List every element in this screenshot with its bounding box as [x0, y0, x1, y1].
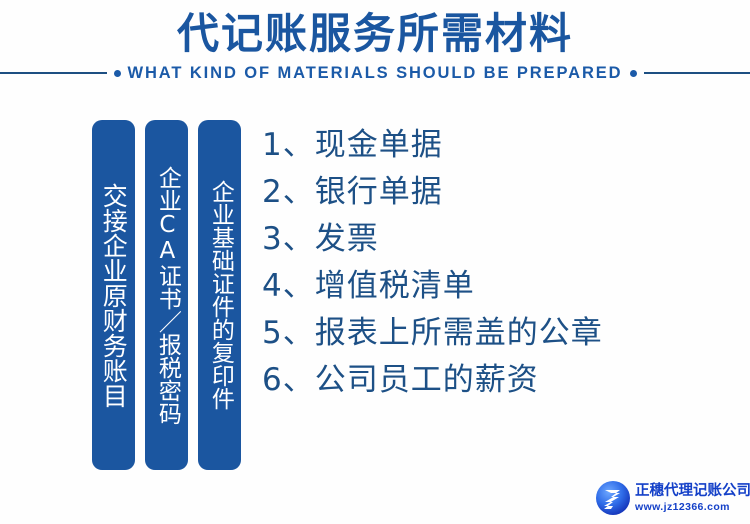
list-item: 4、增值税清单: [262, 263, 732, 310]
page-title: 代记账服务所需材料: [0, 8, 750, 60]
page-subtitle: WHAT KIND OF MATERIALS SHOULD BE PREPARE…: [128, 64, 623, 83]
logo-text-block: 正穗代理记账公司 www.jz12366.com: [635, 484, 750, 512]
list-item-label: 现金单据: [315, 127, 443, 163]
vertical-label-basic-documents: 企业基础证件的复印件: [198, 120, 241, 470]
list-item: 1、现金单据: [262, 122, 732, 169]
materials-list: 1、现金单据 2、银行单据 3、发票 4、增值税清单 5、报表上所需盖的公章 6…: [262, 122, 732, 404]
list-item-label: 报表上所需盖的公章: [315, 315, 603, 351]
list-item-label: 发票: [315, 221, 379, 257]
list-item-label: 公司员工的薪资: [315, 362, 539, 398]
list-item-label: 银行单据: [315, 174, 443, 210]
vertical-label-group: 交接企业原财务账目 企业CA证书／报税密码 企业基础证件的复印件: [92, 120, 241, 470]
vertical-label-ca-certificate: 企业CA证书／报税密码: [145, 120, 188, 470]
vertical-label-handover-accounts: 交接企业原财务账目: [92, 120, 135, 470]
list-item-number: 6、: [262, 362, 315, 398]
list-item-number: 1、: [262, 127, 315, 163]
list-item-number: 5、: [262, 315, 315, 351]
divider-line-right: [644, 72, 750, 74]
company-logo-icon: [594, 479, 632, 517]
list-item-number: 2、: [262, 174, 315, 210]
list-item: 3、发票: [262, 216, 732, 263]
list-item: 2、银行单据: [262, 169, 732, 216]
list-item-number: 3、: [262, 221, 315, 257]
watermark-logo: 正穗代理记账公司 www.jz12366.com: [594, 476, 742, 520]
subtitle-divider: WHAT KIND OF MATERIALS SHOULD BE PREPARE…: [0, 60, 750, 86]
divider-line-left: [0, 72, 107, 74]
logo-company-name: 正穗代理记账公司: [635, 484, 750, 499]
list-item: 6、公司员工的薪资: [262, 357, 732, 404]
logo-website-url: www.jz12366.com: [635, 502, 750, 513]
divider-dot-right-icon: [630, 70, 637, 77]
list-item-label: 增值税清单: [315, 268, 475, 304]
poster-canvas: 代记账服务所需材料 WHAT KIND OF MATERIALS SHOULD …: [0, 0, 750, 524]
poster-header: 代记账服务所需材料 WHAT KIND OF MATERIALS SHOULD …: [0, 0, 750, 92]
list-item-number: 4、: [262, 268, 315, 304]
divider-dot-left-icon: [114, 70, 121, 77]
list-item: 5、报表上所需盖的公章: [262, 310, 732, 357]
